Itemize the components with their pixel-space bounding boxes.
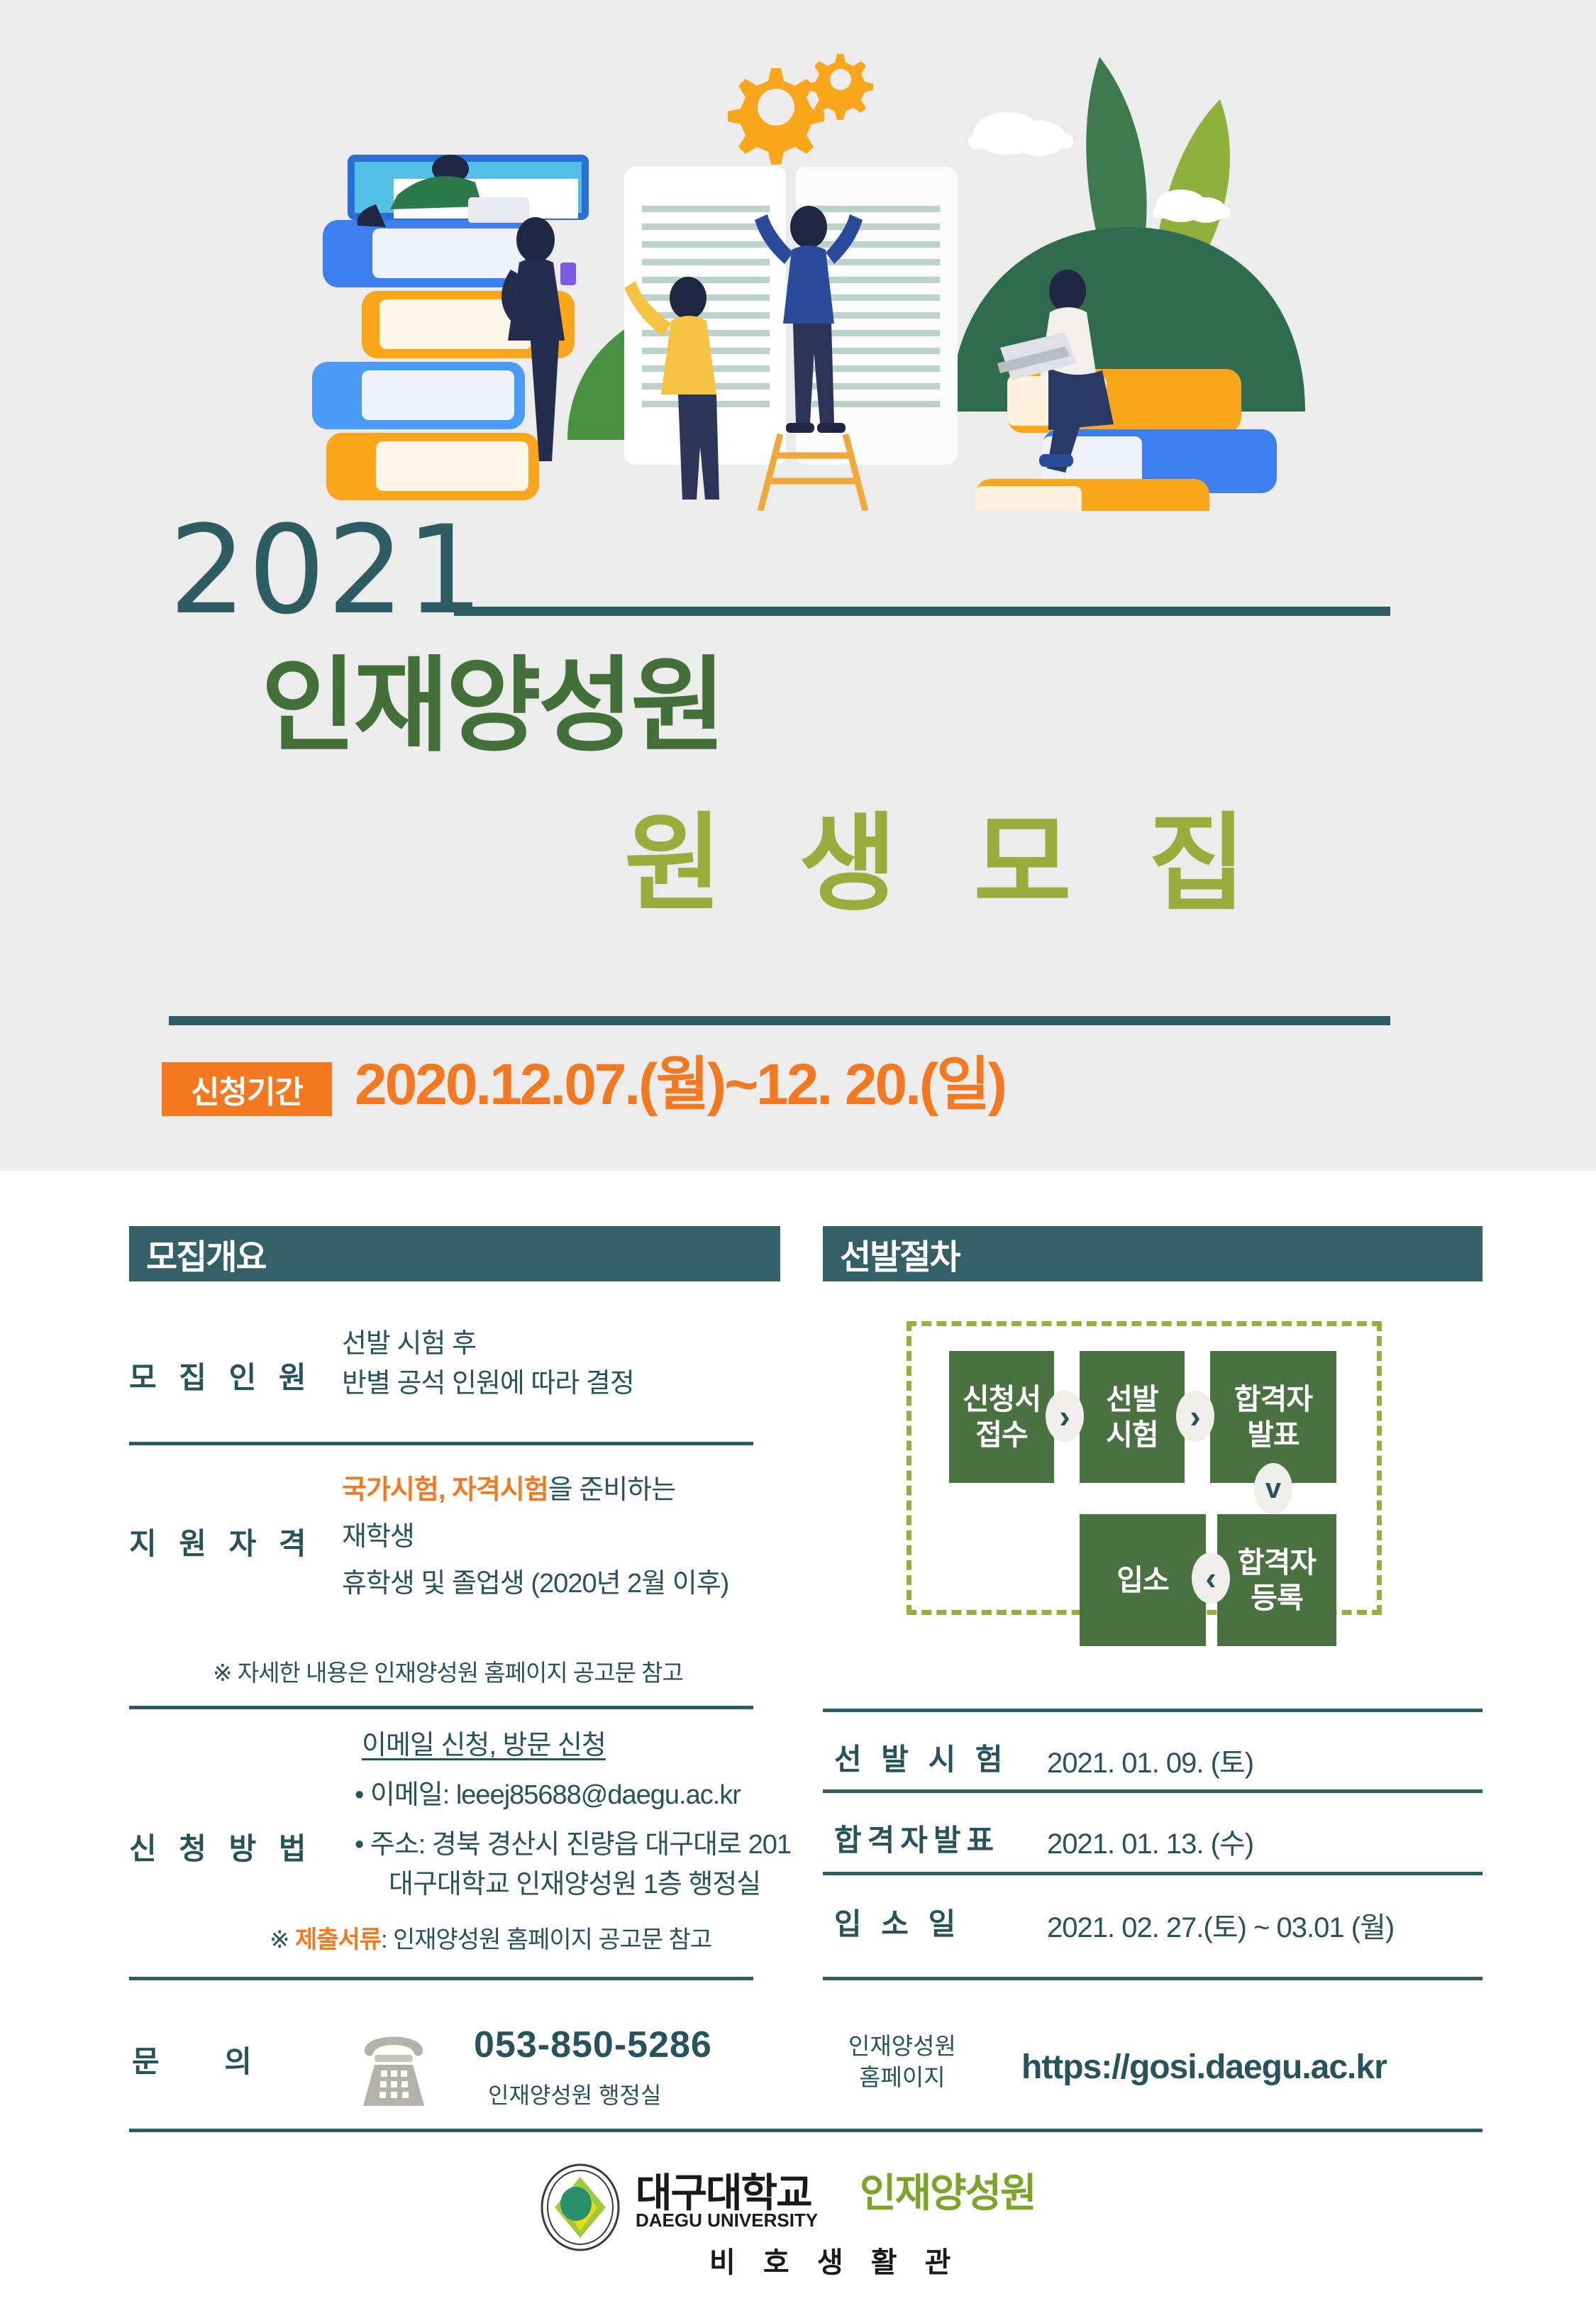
gear-icon-small — [807, 54, 873, 120]
value-howto: 이메일 신청, 방문 신청 • 이메일: leeej85688@daegu.ac… — [355, 1726, 791, 1904]
recruit-title: 원 생 모 집 — [624, 809, 1266, 920]
website-label: 인재양성원 홈페이지 — [848, 2031, 956, 2093]
howto-heading: 이메일 신청, 방문 신청 — [355, 1726, 791, 1765]
quota-line-2: 반별 공석 인원에 따라 결정 — [342, 1364, 634, 1403]
telephone-icon — [355, 2024, 433, 2109]
divider-1 — [129, 1442, 753, 1445]
period-text: 2020.12.07.(월)~12. 20.(일) — [355, 1052, 1005, 1118]
contact-phone[interactable]: 053-850-5286 — [474, 2024, 712, 2066]
howto-bullet-address: • 주소: 경북 경산시 진량읍 대구대로 201 — [355, 1825, 791, 1865]
divider-sched-1 — [823, 1709, 1483, 1712]
flow-box-registration-label: 합격자 등록 — [1238, 1545, 1316, 1616]
footer-divider — [129, 2129, 1483, 2132]
cloud-icon — [968, 112, 1073, 156]
value-eligibility: 국가시험, 자격시험을 준비하는 재학생 휴학생 및 졸업생 (2020년 2월… — [342, 1470, 728, 1604]
hero-panel: 2021 인재양성원 원 생 모 집 신청기간 2020.12.07.(월)~1… — [0, 0, 1596, 1171]
value-entry-date: 2021. 02. 27.(토) ~ 03.01 (월) — [1047, 1904, 1394, 1946]
period-badge: 신청기간 — [162, 1062, 332, 1116]
footer-university-en: DAEGU UNIVERSITY — [636, 2210, 818, 2231]
label-result-date: 합격자발표 — [834, 1816, 999, 1860]
divider-sched-4 — [823, 1977, 1483, 1980]
quota-line-1: 선발 시험 후 — [342, 1324, 634, 1364]
eligibility-note: ※ 자세한 내용은 인재양성원 홈페이지 공고문 참고 — [213, 1653, 683, 1693]
howto-note-rest: : 인재양성원 홈페이지 공고문 참고 — [381, 1926, 711, 1953]
divider-sched-2 — [823, 1789, 1483, 1793]
website-label-line1: 인재양성원 — [848, 2031, 956, 2062]
divider-sched-3 — [823, 1872, 1483, 1875]
footer-hall: 비 호 생 활 관 — [709, 2239, 960, 2280]
flow-box-exam-label: 선발 시험 — [1106, 1381, 1158, 1452]
website-url[interactable]: https://gosi.daegu.ac.kr — [1021, 2048, 1387, 2087]
daegu-university-emblem — [539, 2163, 621, 2252]
divider-2 — [129, 1706, 753, 1709]
hero-illustration — [270, 14, 1348, 511]
divider-3 — [129, 1977, 753, 1980]
eligibility-line-1: 재학생 — [342, 1517, 728, 1557]
flow-box-entry: 입소 — [1080, 1514, 1206, 1646]
howto-note: ※ 제출서류: 인재양성원 홈페이지 공고문 참고 — [270, 1920, 711, 1960]
flow-box-exam: 선발 시험 — [1080, 1351, 1185, 1483]
label-quota: 모 집 인 원 — [129, 1354, 314, 1397]
flow-arrow-left: ‹ — [1192, 1552, 1230, 1604]
book-stack-icon — [975, 369, 1277, 511]
eligibility-rest: 을 준비하는 — [548, 1475, 675, 1505]
rule-top — [454, 607, 1390, 616]
poster-root: 2021 인재양성원 원 생 모 집 신청기간 2020.12.07.(월)~1… — [0, 0, 1596, 2306]
flow-box-application: 신청서 접수 — [949, 1351, 1054, 1483]
flow-arrow-right-1: › — [1046, 1391, 1084, 1442]
footer-institute: 인재양성원 — [860, 2161, 1036, 2219]
value-quota: 선발 시험 후 반별 공석 인원에 따라 결정 — [342, 1324, 634, 1403]
flow-box-announcement-label: 합격자 발표 — [1234, 1381, 1312, 1452]
howto-address-cont: 대구대학교 인재양성원 1층 행정실 — [355, 1865, 791, 1904]
section-header-procedure: 선발절차 — [823, 1226, 1483, 1281]
label-exam-date: 선 발 시 험 — [834, 1736, 1009, 1779]
eligibility-line-2: 휴학생 및 졸업생 (2020년 2월 이후) — [342, 1564, 728, 1604]
value-result-date: 2021. 01. 13. (수) — [1047, 1821, 1253, 1862]
howto-note-mark: ※ — [270, 1926, 295, 1953]
label-entry-date: 입 소 일 — [834, 1900, 961, 1943]
value-exam-date: 2021. 01. 09. (토) — [1047, 1740, 1253, 1781]
section-header-overview: 모집개요 — [129, 1226, 780, 1281]
flow-box-entry-label: 입소 — [1116, 1562, 1168, 1598]
eligibility-headline: 국가시험, 자격시험을 준비하는 — [342, 1470, 728, 1510]
flow-arrow-right-2: › — [1176, 1391, 1214, 1442]
institute-title: 인재양성원 — [261, 653, 724, 759]
flow-box-registration: 합격자 등록 — [1217, 1514, 1336, 1646]
year-title: 2021 — [169, 509, 485, 631]
contact-phone-sub: 인재양성원 행정실 — [488, 2078, 661, 2110]
gear-icon — [728, 68, 824, 165]
label-eligibility: 지 원 자 격 — [129, 1520, 314, 1563]
rule-bottom — [169, 1016, 1390, 1025]
howto-note-highlight: 제출서류 — [295, 1926, 381, 1953]
website-label-line2: 홈페이지 — [848, 2062, 956, 2093]
contact-label: 문 의 — [132, 2038, 280, 2081]
howto-bullet-email: • 이메일: leeej85688@daegu.ac.kr — [355, 1775, 791, 1815]
label-howto: 신 청 방 법 — [129, 1825, 314, 1868]
flow-arrow-down: v — [1254, 1463, 1292, 1514]
flow-box-application-label: 신청서 접수 — [963, 1381, 1041, 1452]
eligibility-highlight: 국가시험, 자격시험 — [342, 1475, 548, 1505]
